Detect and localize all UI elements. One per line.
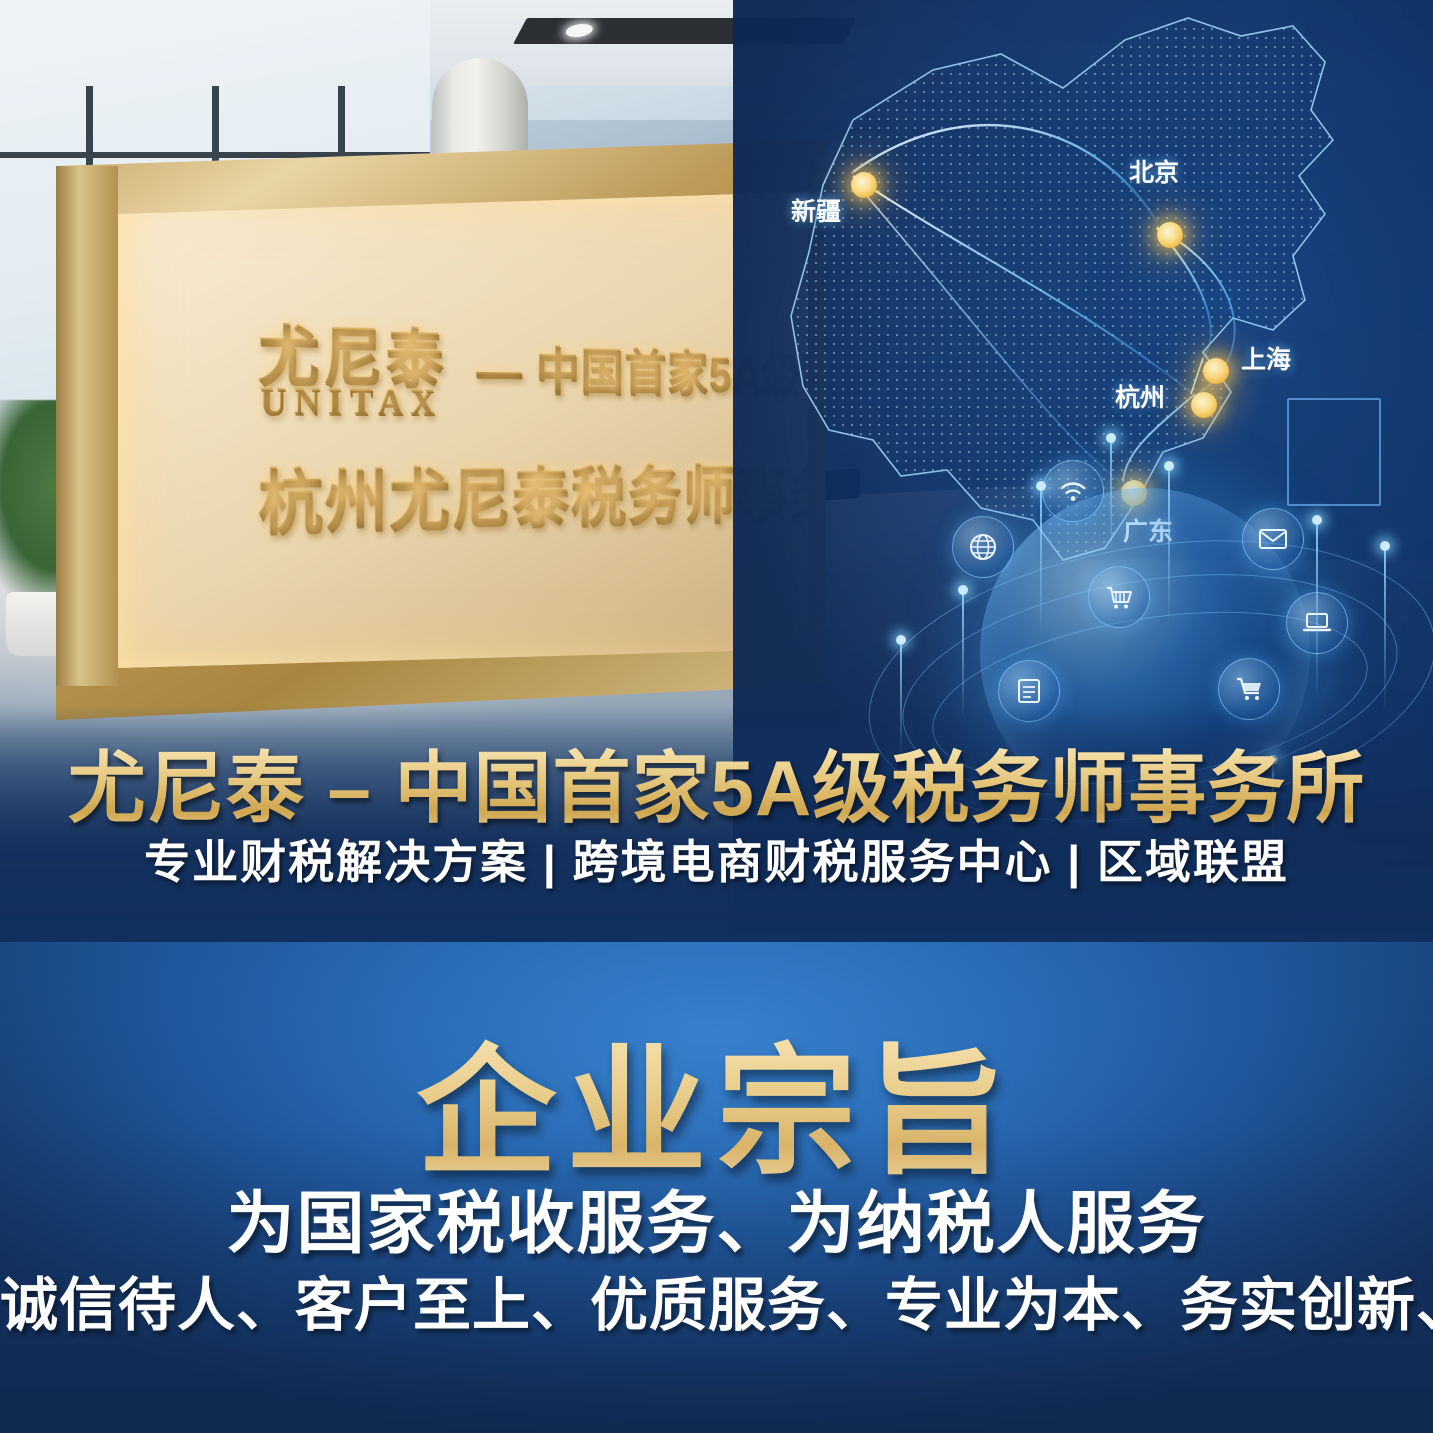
marker-dot bbox=[1191, 392, 1217, 418]
signage-side-face bbox=[56, 166, 118, 686]
signage-backlit-panel: 尤尼泰 UNITAX — 中国首家5A级税务师事务所 杭州尤尼泰税务师事务所 bbox=[118, 192, 808, 668]
city-label: 北京 bbox=[1129, 153, 1179, 189]
marker-dot bbox=[851, 172, 877, 198]
purpose-values: 诚信待人、客户至上、优质服务、专业为本、务实创新、和谐发展 bbox=[0, 1258, 1433, 1342]
hero-photo-section: 尤尼泰 UNITAX — 中国首家5A级税务师事务所 杭州尤尼泰税务师事务所 bbox=[0, 0, 1433, 942]
marker-dot bbox=[1203, 358, 1229, 384]
signage-text-group: 尤尼泰 UNITAX — 中国首家5A级税务师事务所 杭州尤尼泰税务师事务所 bbox=[118, 192, 700, 668]
light-beam bbox=[1384, 546, 1386, 710]
light-beam bbox=[1316, 520, 1318, 700]
document-glyph bbox=[1016, 677, 1042, 705]
cart-alt-glyph bbox=[1234, 675, 1264, 703]
light-beam bbox=[962, 590, 964, 718]
page-subtitle: 专业财税解决方案 | 跨境电商财税服务中心 | 区域联盟 bbox=[0, 826, 1433, 892]
cart-glyph bbox=[1104, 583, 1134, 611]
light-beam bbox=[1110, 438, 1112, 556]
city-label: 上海 bbox=[1241, 340, 1291, 376]
web-globe-glyph bbox=[968, 532, 998, 562]
marker-dot bbox=[1157, 222, 1183, 248]
mail-glyph bbox=[1258, 528, 1288, 550]
city-label: 新疆 bbox=[791, 192, 841, 228]
signage-brand-en: UNITAX bbox=[260, 378, 442, 424]
lobby-signage: 尤尼泰 UNITAX — 中国首家5A级税务师事务所 杭州尤尼泰税务师事务所 bbox=[56, 140, 826, 720]
purpose-motto: 为国家税收服务、为纳税人服务 bbox=[0, 1168, 1433, 1267]
city-label: 杭州 bbox=[1115, 378, 1165, 414]
cart-icon bbox=[1088, 566, 1150, 628]
promo-poster: 尤尼泰 UNITAX — 中国首家5A级税务师事务所 杭州尤尼泰税务师事务所 bbox=[0, 0, 1433, 1433]
web-globe-icon bbox=[952, 516, 1014, 578]
wifi-glyph bbox=[1058, 479, 1088, 503]
wifi-icon bbox=[1042, 460, 1104, 522]
page-title: 尤尼泰 – 中国首家5A级税务师事务所 bbox=[0, 726, 1433, 838]
light-beam bbox=[1168, 466, 1170, 626]
mail-icon bbox=[1242, 508, 1304, 570]
light-beam bbox=[1040, 486, 1042, 636]
south-china-sea-inset-icon bbox=[1287, 398, 1381, 506]
